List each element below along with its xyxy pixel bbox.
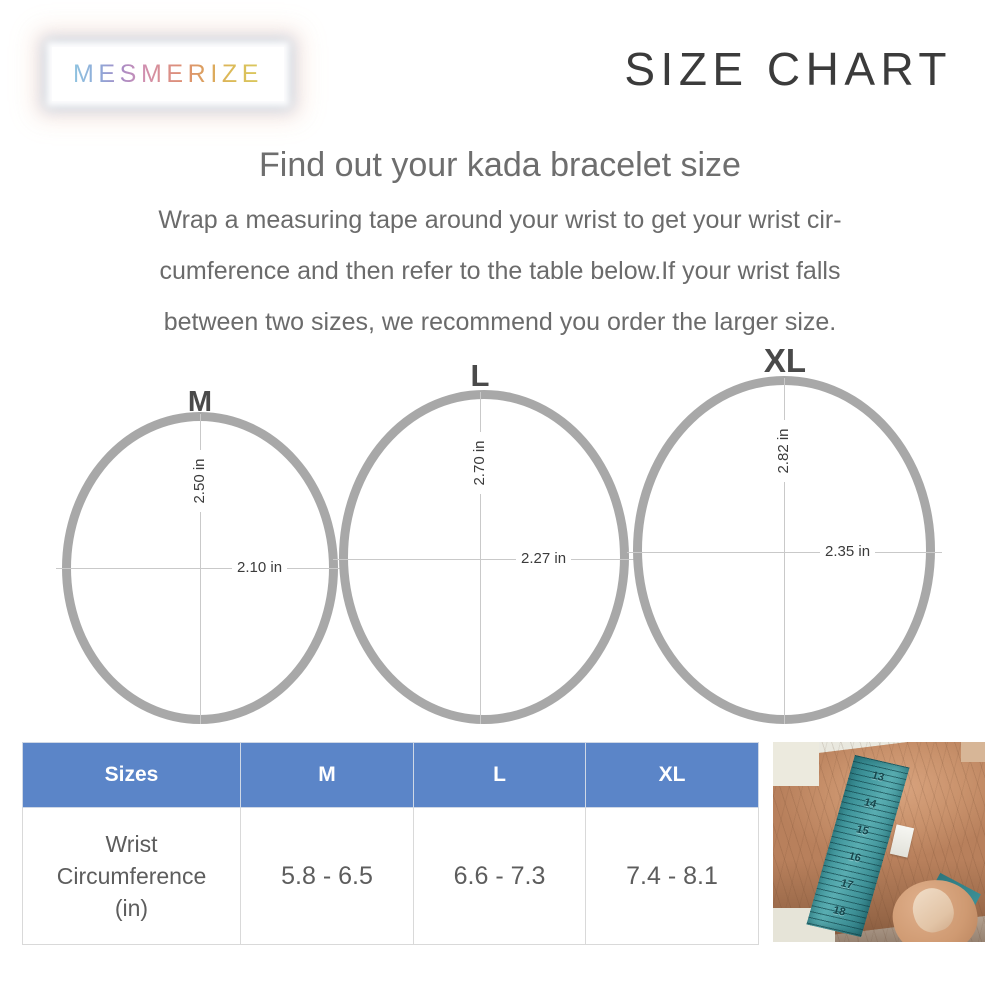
oval-label-xl: XL	[752, 344, 818, 377]
oval-label-l: L	[450, 360, 510, 391]
oval-crosshair-horizontal-m	[56, 568, 346, 569]
oval-dimension-width-xl: 2.35 in	[820, 544, 875, 560]
oval-dimension-height-l: 2.70 in	[467, 432, 493, 494]
photo-background-top-left	[773, 742, 819, 786]
wrist-measurement-photo: 13 14 15 16 17 18	[773, 742, 985, 942]
table-row: Wrist Circumference (in) 5.8 - 6.5 6.6 -…	[23, 808, 759, 945]
table-header-m: M	[241, 743, 414, 808]
row-label-line-2: Circumference	[24, 860, 239, 892]
table-header-xl: XL	[586, 743, 759, 808]
table-cell-l: 6.6 - 7.3	[414, 808, 586, 945]
intro-line-1: Wrap a measuring tape around your wrist …	[50, 195, 950, 246]
oval-crosshair-horizontal-xl	[627, 552, 942, 553]
table-header-l: L	[414, 743, 586, 808]
oval-crosshair-horizontal-l	[333, 559, 636, 560]
oval-dimension-width-m: 2.10 in	[232, 560, 287, 576]
table-header-sizes: Sizes	[23, 743, 241, 808]
intro-line-2: cumference and then refer to the table b…	[50, 246, 950, 297]
row-label-line-1: Wrist	[24, 828, 239, 860]
size-chart-page: MESMERIZE SIZE CHART Find out your kada …	[0, 0, 1000, 1000]
oval-diagram-group: M 2.50 in 2.10 in L 2.70 in 2.27 in XL 2…	[0, 340, 1000, 740]
table-cell-m: 5.8 - 6.5	[241, 808, 414, 945]
table-header-row: Sizes M L XL	[23, 743, 759, 808]
intro-heading: Find out your kada bracelet size	[50, 143, 950, 187]
brand-name: MESMERIZE	[73, 60, 263, 89]
row-label-line-3: (in)	[24, 892, 239, 924]
brand-logo: MESMERIZE	[52, 47, 284, 101]
page-title: SIZE CHART	[624, 42, 952, 96]
table-row-label-wrist-circumference: Wrist Circumference (in)	[23, 808, 241, 945]
table-cell-xl: 7.4 - 8.1	[586, 808, 759, 945]
size-table: Sizes M L XL Wrist Circumference (in) 5.…	[22, 742, 759, 945]
intro-block: Find out your kada bracelet size Wrap a …	[50, 143, 950, 348]
oval-dimension-height-m: 2.50 in	[187, 450, 213, 512]
photo-background-top-right	[961, 742, 985, 762]
intro-body: Wrap a measuring tape around your wrist …	[50, 195, 950, 348]
oval-dimension-height-xl: 2.82 in	[771, 420, 797, 482]
oval-dimension-width-l: 2.27 in	[516, 551, 571, 567]
